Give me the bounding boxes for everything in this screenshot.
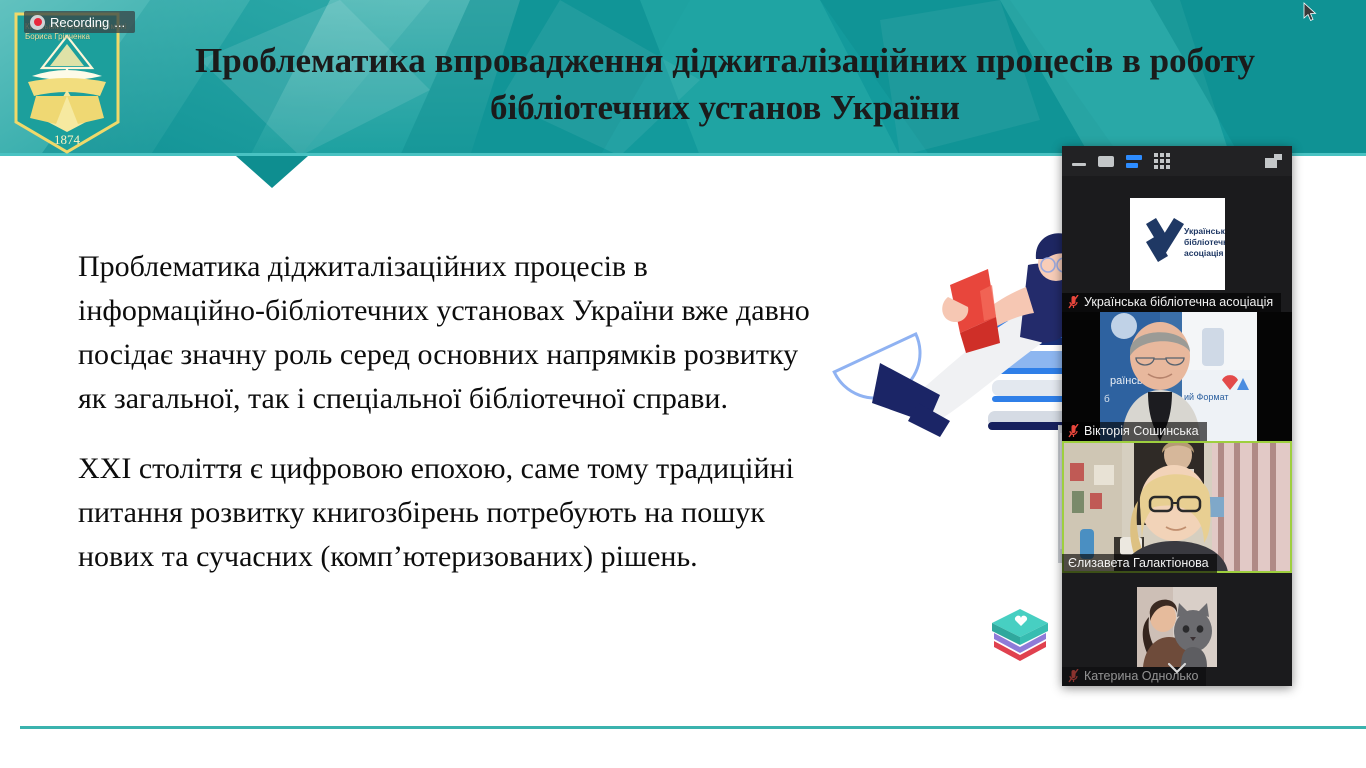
- gallery-view-icon[interactable]: [1154, 153, 1170, 169]
- chevron-down-icon[interactable]: [1167, 662, 1187, 674]
- participant-tile[interactable]: Українська бібліотечна асоціація Українс…: [1062, 176, 1292, 312]
- mouse-pointer-icon: [1303, 2, 1317, 22]
- body-paragraph-2: XXI століття є цифровою епохою, саме том…: [78, 447, 813, 579]
- participant-name: Українська бібліотечна асоціація: [1084, 295, 1273, 309]
- body-paragraph-1: Проблематика діджиталізаційних процесів …: [78, 245, 813, 421]
- svg-text:Українська: Українська: [1184, 226, 1225, 236]
- header-triangle-tab: [236, 156, 308, 188]
- zoom-video-panel[interactable]: Українська бібліотечна асоціація Українс…: [1062, 146, 1292, 686]
- minimize-icon[interactable]: [1072, 157, 1086, 166]
- microphone-muted-icon: [1068, 424, 1079, 438]
- participant-avatar: [1137, 587, 1217, 667]
- svg-text:б: б: [1104, 393, 1110, 405]
- zoom-window-toolbar[interactable]: [1062, 146, 1292, 176]
- svg-text:асоціація: асоціація: [1184, 248, 1224, 258]
- maximize-icon[interactable]: [1098, 156, 1114, 167]
- microphone-muted-icon: [1068, 295, 1079, 309]
- record-dot-icon: [30, 15, 45, 30]
- slide-bottom-rule: [20, 726, 1366, 729]
- participant-tile-active-speaker[interactable]: Єлизавета Галактіонова: [1062, 441, 1292, 573]
- person-reading-books-icon: [820, 225, 1080, 675]
- slide-body-text: Проблематика діджиталізаційних процесів …: [78, 245, 813, 579]
- slide-title: Проблематика впровадження діджиталізацій…: [170, 38, 1280, 132]
- reader-illustration: [820, 225, 1080, 675]
- participant-name-bar: Українська бібліотечна асоціація: [1062, 293, 1281, 312]
- recording-ellipsis: ...: [114, 15, 125, 30]
- participant-name: Єлизавета Галактіонова: [1068, 556, 1209, 570]
- svg-text:1874: 1874: [54, 132, 81, 147]
- speaker-view-icon[interactable]: [1126, 155, 1142, 168]
- zoom-participant-list[interactable]: Українська бібліотечна асоціація Українс…: [1062, 176, 1292, 686]
- presentation-screen: Проблематика впровадження діджиталізацій…: [0, 0, 1366, 768]
- recording-indicator[interactable]: Recording ...: [24, 11, 135, 33]
- svg-text:ий Формат: ий Формат: [1184, 392, 1229, 402]
- participant-name-bar: Єлизавета Галактіонова: [1062, 554, 1217, 573]
- svg-text:бібліотечна: бібліотечна: [1184, 237, 1225, 247]
- recording-label: Recording: [50, 15, 109, 30]
- uba-logo-icon: Українська бібліотечна асоціація: [1130, 198, 1225, 290]
- participant-tile[interactable]: Катерина Однолько: [1062, 573, 1292, 686]
- microphone-muted-icon: [1068, 669, 1079, 683]
- picture-in-picture-icon[interactable]: [1265, 154, 1282, 168]
- participant-tile[interactable]: раїнськ б ий Формат: [1062, 312, 1292, 441]
- participant-name-bar: Вікторія Сошинська: [1062, 422, 1207, 441]
- participant-name: Вікторія Сошинська: [1084, 424, 1199, 438]
